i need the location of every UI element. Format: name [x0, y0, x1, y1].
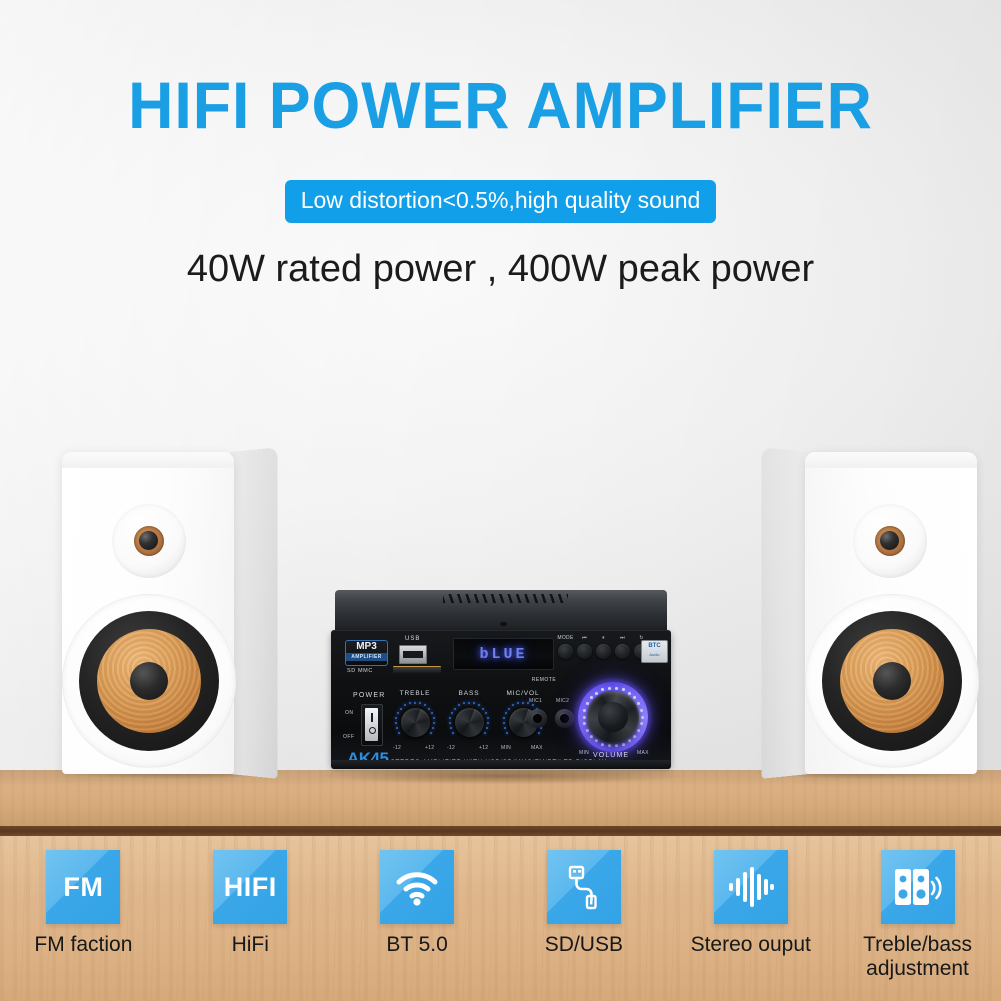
fm-icon: FM	[46, 850, 120, 924]
right-tweeter	[875, 526, 905, 556]
mic2-jack[interactable]	[555, 709, 574, 728]
previous-track-label: ⏮	[576, 635, 593, 641]
feature-item-bt: BT 5.0	[342, 850, 492, 957]
feature-item-stereo: Stereo ouput	[676, 850, 826, 957]
sd-mmc-label: SD MMC	[347, 668, 373, 674]
feature-item-sdusb: SD/USB	[509, 850, 659, 957]
left-speaker-front-baffle	[62, 452, 234, 774]
right-woofer-cone	[840, 629, 944, 733]
feature-label-stereo: Stereo ouput	[691, 933, 811, 957]
mic2-label: MIC2	[556, 698, 569, 704]
right-woofer-housing	[805, 594, 979, 768]
volume-knob[interactable]	[587, 691, 639, 743]
left-tweeter	[134, 526, 164, 556]
mp3-badge-subtitle: AMPLIFIER	[346, 653, 387, 661]
right-woofer-surround	[822, 611, 962, 751]
product-banner: HIFI POWER AMPLIFIER Low distortion<0.5%…	[0, 0, 1001, 1001]
mic-vol-knob-label: MIC/VOL	[501, 690, 545, 697]
play-pause-button[interactable]	[596, 644, 611, 659]
btc-badge-subtitle: Audio	[642, 651, 667, 658]
volume-knob-cap	[598, 702, 628, 732]
mp3-badge-title: MP3	[346, 641, 387, 653]
mic1-label: MIC1	[529, 698, 542, 704]
feature-item-hifi: HIFI HiFi	[175, 850, 325, 957]
left-woofer-housing	[62, 594, 236, 768]
tagline-badge-wrap: Low distortion<0.5%,high quality sound	[0, 180, 1001, 223]
bass-knob[interactable]	[455, 708, 484, 737]
hifi-icon: HIFI	[213, 850, 287, 924]
amplifier-base	[331, 760, 671, 769]
feature-list: FM FM faction HIFI HiFi BT	[0, 850, 1001, 1001]
mp3-amplifier-badge: MP3 AMPLIFIER	[345, 640, 388, 666]
led-display-text: bLUE	[479, 646, 527, 663]
amplifier-front-panel: MP3 AMPLIFIER SD MMC USB bLUE MODE ⏮ ⏸ ⏭…	[331, 630, 671, 766]
waveform-icon	[714, 850, 788, 924]
feature-item-fm: FM FM faction	[8, 850, 158, 957]
amplifier-unit: MP3 AMPLIFIER SD MMC USB bLUE MODE ⏮ ⏸ ⏭…	[331, 590, 671, 776]
left-tweeter-dome	[139, 531, 158, 550]
page-title: HIFI POWER AMPLIFIER	[25, 72, 976, 138]
right-speaker-side-panel	[762, 447, 809, 779]
usb-port[interactable]	[399, 645, 427, 664]
left-speaker-side-panel	[230, 447, 277, 779]
usb-label: USB	[405, 636, 420, 642]
play-pause-label: ⏸	[595, 635, 612, 641]
feature-label-hifi: HiFi	[232, 933, 269, 957]
treble-knob-label: TREBLE	[393, 690, 437, 697]
power-on-label: ON	[345, 710, 354, 716]
power-switch[interactable]	[361, 704, 383, 746]
feature-label-fm: FM faction	[34, 933, 132, 957]
feature-label-sdusb: SD/USB	[545, 933, 623, 957]
feature-label-treble-bass: Treble/bass adjustment	[843, 933, 993, 980]
left-woofer-dustcap	[130, 662, 168, 700]
volume-max-label: MAX	[637, 750, 649, 756]
sd-card-slot[interactable]	[393, 666, 441, 674]
left-woofer-cone	[97, 629, 201, 733]
left-speaker	[62, 452, 277, 774]
right-woofer-dustcap	[873, 662, 911, 700]
left-woofer-surround	[79, 611, 219, 751]
power-spec-text: 40W rated power , 400W peak power	[0, 248, 1001, 291]
mode-button[interactable]	[558, 644, 573, 659]
fm-icon-text: FM	[63, 872, 103, 903]
feature-item-treble-bass: Treble/bass adjustment	[843, 850, 993, 980]
power-on-symbol-icon	[371, 713, 373, 722]
next-track-label: ⏭	[614, 635, 631, 641]
bass-knob-label: BASS	[447, 690, 491, 697]
bluetooth-wifi-icon	[380, 850, 454, 924]
amplifier-top-cover	[335, 590, 667, 632]
right-tweeter-dome	[880, 531, 899, 550]
speaker-adjust-icon	[881, 850, 955, 924]
right-tweeter-housing	[853, 504, 927, 578]
btc-badge-title: BTC	[642, 641, 667, 651]
playback-button-row: MODE ⏮ ⏸ ⏭ ↻	[557, 635, 649, 669]
ventilation-slots-icon	[443, 594, 568, 603]
btc-audio-badge: BTC Audio	[641, 640, 668, 663]
tagline-badge: Low distortion<0.5%,high quality sound	[285, 180, 717, 223]
power-off-label: OFF	[343, 734, 355, 740]
treble-knob[interactable]	[401, 708, 430, 737]
power-switch-rocker[interactable]	[365, 708, 378, 741]
mic1-jack[interactable]	[528, 709, 547, 728]
right-speaker	[762, 452, 977, 774]
amplifier-top-screw	[500, 622, 507, 626]
power-label: POWER	[353, 692, 385, 699]
left-tweeter-housing	[112, 504, 186, 578]
next-track-button[interactable]	[615, 644, 630, 659]
usb-cable-icon	[547, 850, 621, 924]
right-speaker-front-baffle	[805, 452, 977, 774]
mode-button-label: MODE	[557, 635, 574, 641]
remote-sensor-label: REMOTE	[527, 677, 561, 683]
hifi-icon-text: HIFI	[224, 872, 277, 903]
feature-label-bt: BT 5.0	[386, 933, 447, 957]
left-speaker-top	[62, 452, 234, 468]
previous-track-button[interactable]	[577, 644, 592, 659]
right-speaker-top	[805, 452, 977, 468]
power-off-symbol-icon	[369, 727, 376, 734]
led-display: bLUE	[453, 638, 554, 670]
